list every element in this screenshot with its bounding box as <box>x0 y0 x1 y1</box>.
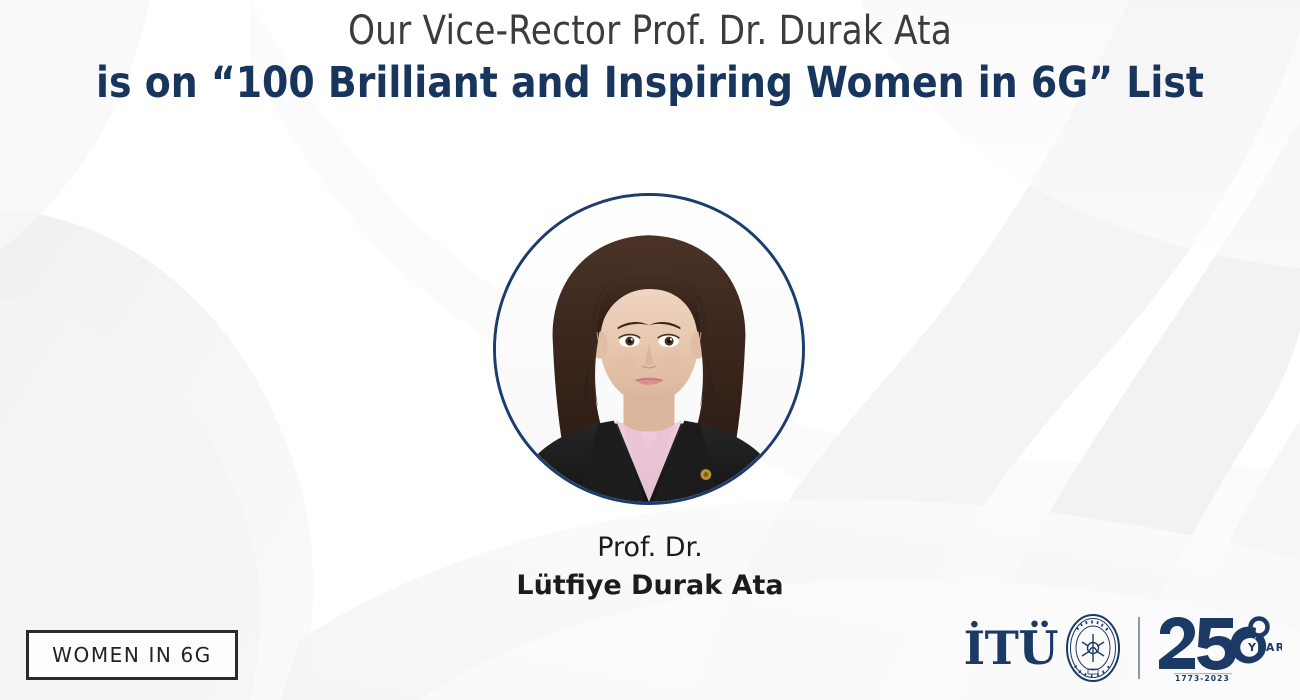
logo-divider <box>1138 617 1140 679</box>
itu-logo-lockup: İTÜ <box>964 608 1282 688</box>
women-in-6g-badge: WOMEN IN 6G <box>26 630 238 680</box>
headline-line-2: is on “100 Brilliant and Inspiring Women… <box>78 57 1222 111</box>
person-name-block: Prof. Dr. Lütfiye Durak Ata <box>0 530 1300 604</box>
person-name: Lütfiye Durak Ata <box>0 568 1300 604</box>
poster-canvas: Our Vice-Rector Prof. Dr. Durak Ata is o… <box>0 0 1300 700</box>
anniversary-250-year-logo: YEAR 1773-2023 <box>1156 611 1282 685</box>
itu-wordmark: İTÜ <box>964 625 1058 671</box>
anniversary-years-strip: 1773-2023 <box>1174 673 1232 683</box>
itu-seal-icon <box>1064 612 1122 684</box>
headline-line-1: Our Vice-Rector Prof. Dr. Durak Ata <box>91 8 1209 55</box>
person-title: Prof. Dr. <box>0 530 1300 566</box>
anniversary-unit-text: YEAR <box>1247 641 1282 654</box>
women-in-6g-label: WOMEN IN 6G <box>52 643 212 667</box>
svg-text:1773-2023: 1773-2023 <box>1175 674 1230 683</box>
portrait-illustration <box>496 196 802 502</box>
portrait-avatar <box>493 193 805 505</box>
headline-block: Our Vice-Rector Prof. Dr. Durak Ata is o… <box>0 8 1300 111</box>
